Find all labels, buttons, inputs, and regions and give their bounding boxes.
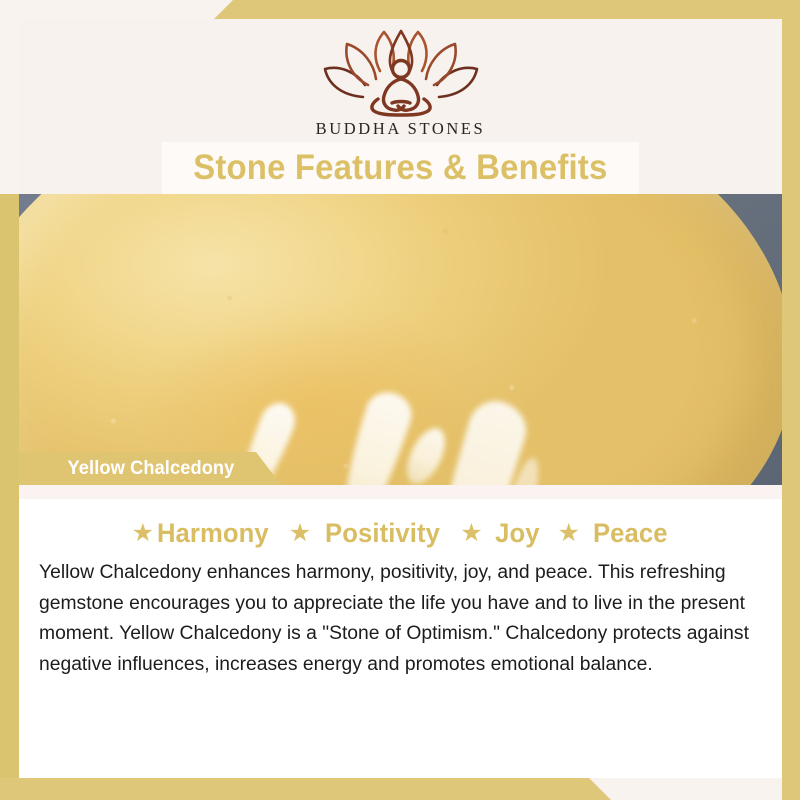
stone-name-label: Yellow Chalcedony [23, 458, 234, 480]
stone-photo [19, 194, 782, 485]
keyword-joy: Joy [495, 518, 539, 549]
keyword-peace: Peace [593, 518, 668, 549]
stone-description: Yellow Chalcedony enhances harmony, posi… [39, 557, 751, 679]
brand-name: BUDDHA STONES [19, 119, 782, 139]
infographic-page: BUDDHA STONES Stone Features & Benefits … [0, 0, 800, 800]
stone-name-banner: Yellow Chalcedony [19, 452, 282, 486]
keyword-list: ★Harmony★Positivity★Joy★Peace [19, 518, 782, 549]
gold-top-border [0, 0, 800, 19]
star-icon: ★ [132, 521, 154, 546]
keyword-positivity: Positivity [325, 518, 440, 549]
content-panel: ★Harmony★Positivity★Joy★Peace Yellow Cha… [19, 485, 782, 778]
gold-bottom-border [0, 778, 800, 800]
gold-right-border [782, 0, 800, 800]
section-title-box: Stone Features & Benefits [162, 142, 639, 194]
brand-logo: BUDDHA STONES [19, 25, 782, 139]
lotus-meditation-logo-icon [316, 25, 486, 117]
star-icon: ★ [289, 521, 311, 546]
star-icon: ★ [557, 521, 579, 546]
gold-left-border [0, 194, 19, 800]
page-title: Stone Features & Benefits [193, 148, 607, 188]
star-icon: ★ [460, 521, 482, 546]
keyword-harmony: Harmony [157, 518, 269, 549]
content-top-divider [19, 485, 782, 499]
